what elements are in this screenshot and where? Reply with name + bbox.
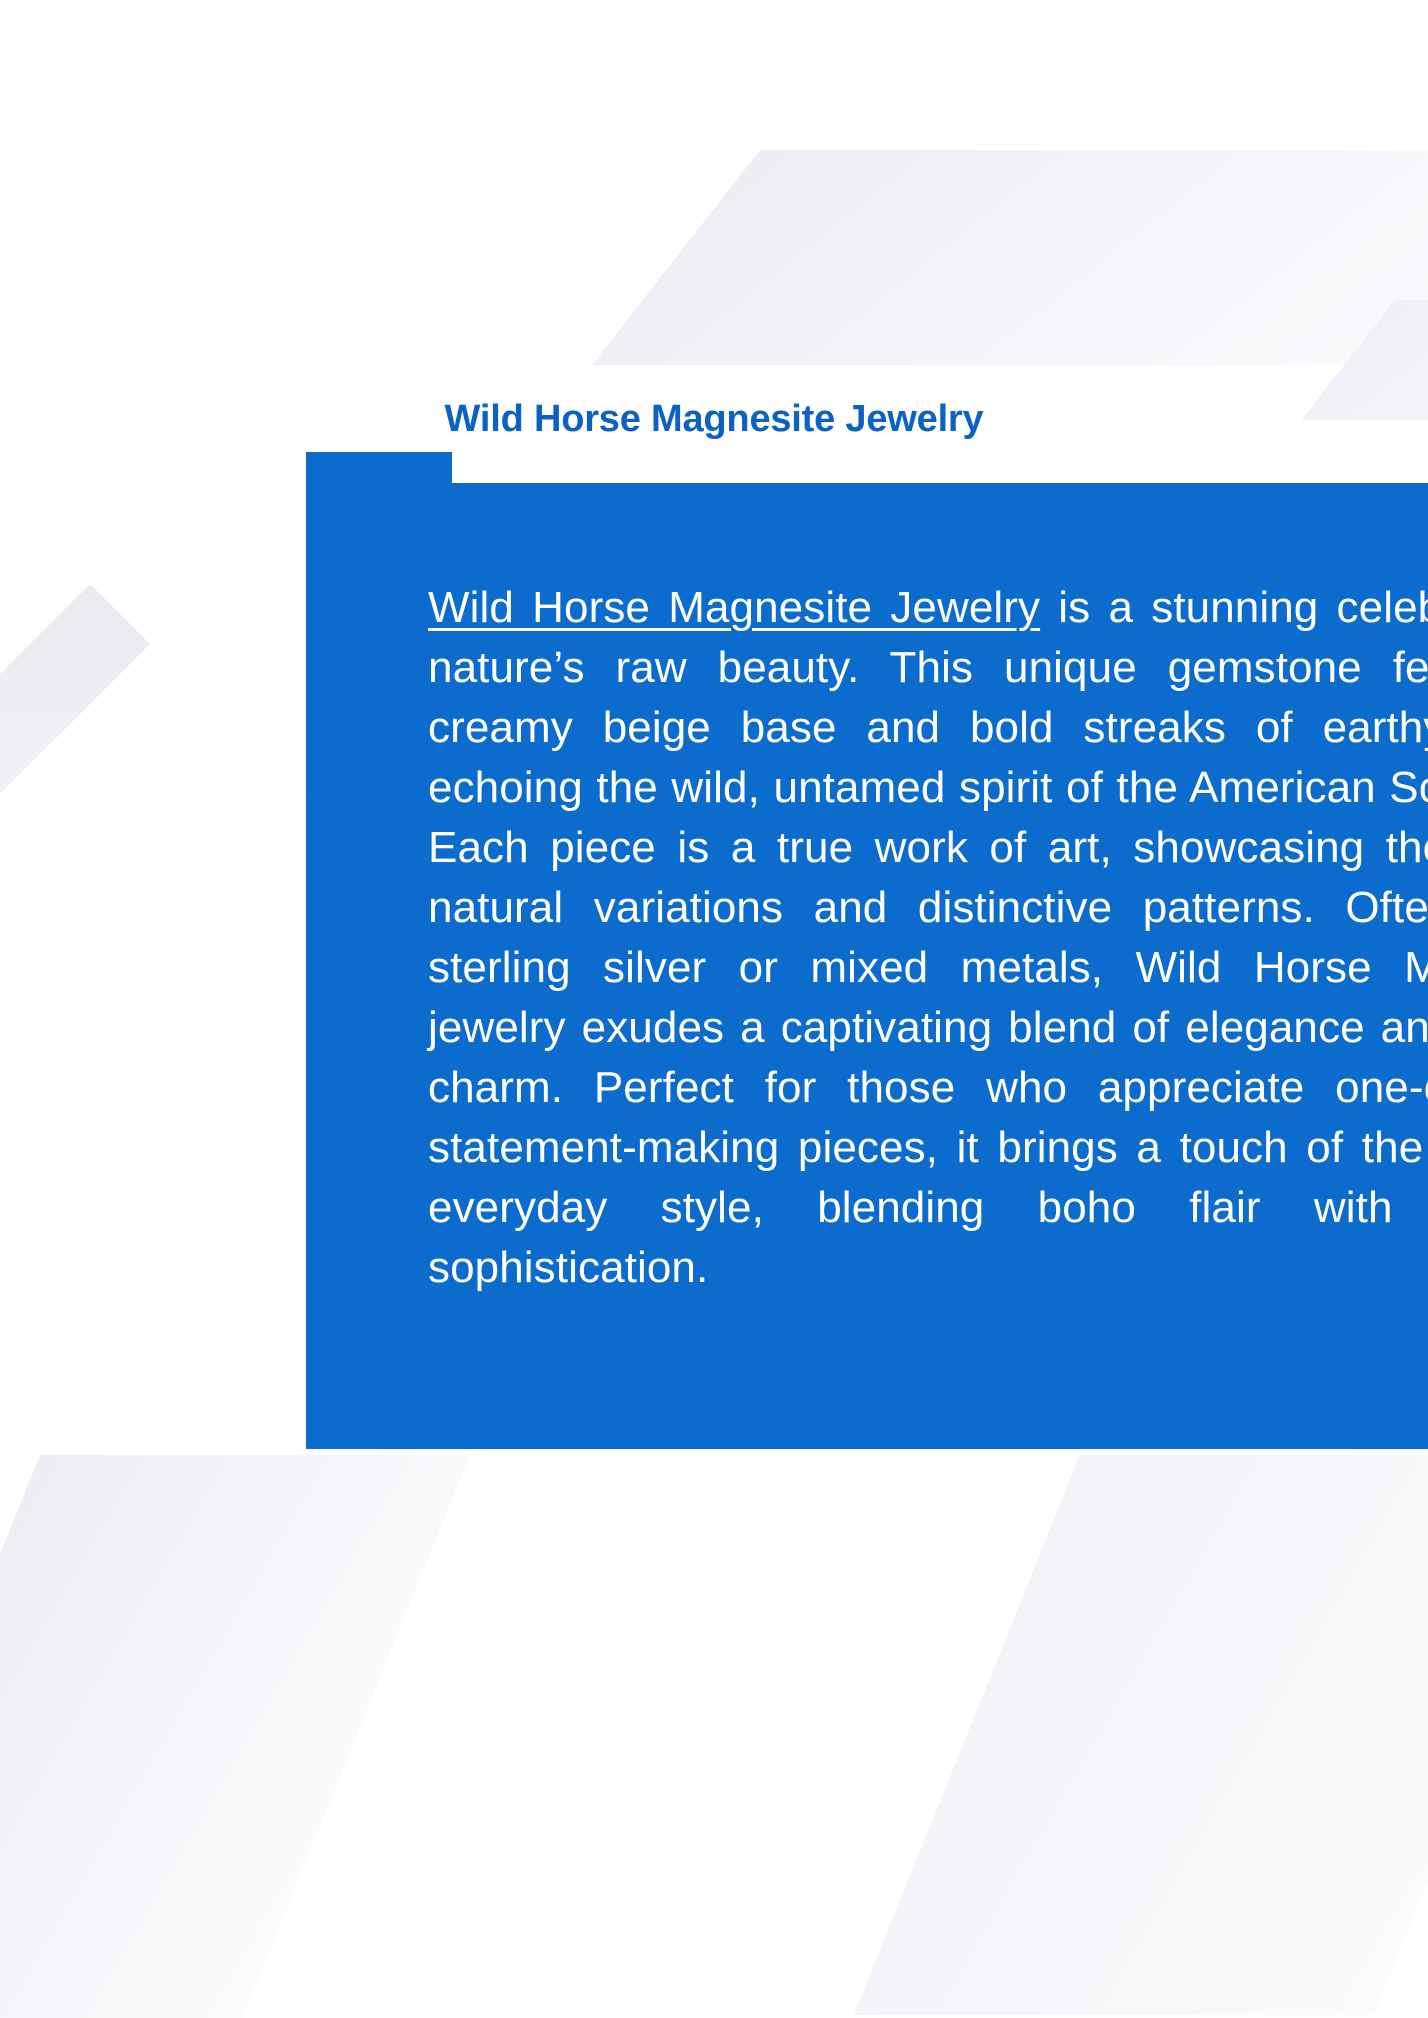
bottom-right-band-shape xyxy=(854,1455,1428,2015)
slide-canvas: Wild Horse Magnesite Jewelry Wild Horse … xyxy=(0,0,1428,2018)
panel-paragraph: Wild Horse Magnesite Jewelry is a stunni… xyxy=(428,578,1428,1298)
page-title: Wild Horse Magnesite Jewelry xyxy=(0,398,1428,441)
lead-link[interactable]: Wild Horse Magnesite Jewelry xyxy=(428,583,1040,632)
top-band-shape xyxy=(592,150,1428,365)
panel-notch-tab xyxy=(306,452,452,484)
panel-body: Wild Horse Magnesite Jewelry is a stunni… xyxy=(306,483,1428,1449)
paragraph-text: is a stunning celebration of nature’s ra… xyxy=(428,583,1428,1292)
content-panel: Wild Horse Magnesite Jewelry is a stunni… xyxy=(306,452,1428,1449)
bottom-band-shape xyxy=(0,1455,470,2018)
